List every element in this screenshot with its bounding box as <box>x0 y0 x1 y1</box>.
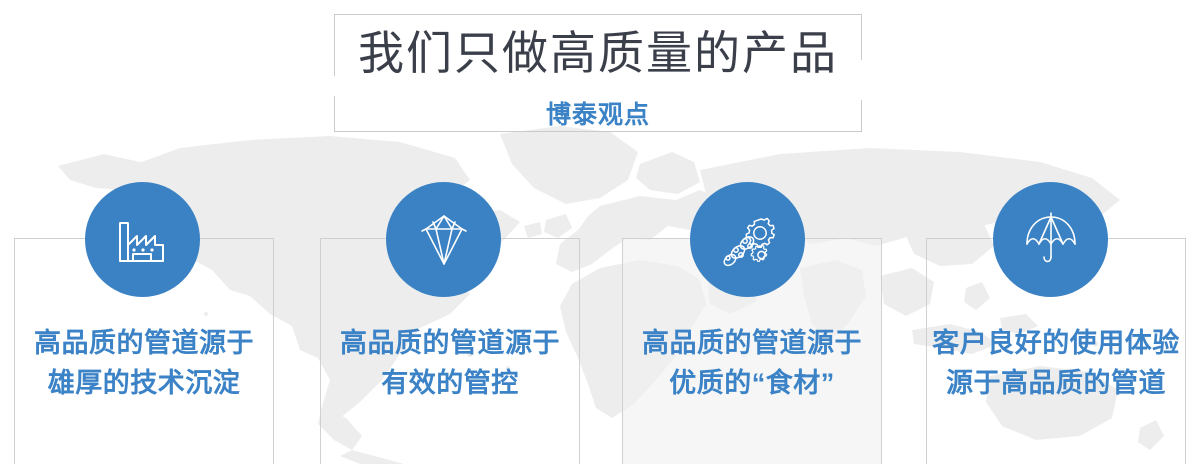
page-subtitle: 博泰观点 <box>334 100 862 130</box>
feature-icon-circle-3[interactable] <box>690 182 805 297</box>
feature-icon-circle-2[interactable] <box>386 182 501 297</box>
feature-card-3-text: 高品质的管道源于 优质的“食材” <box>623 323 881 403</box>
factory-icon <box>115 215 171 265</box>
umbrella-icon <box>1023 212 1079 268</box>
feature-icon-circle-1[interactable] <box>85 182 200 297</box>
diamond-icon <box>418 212 470 268</box>
feature-icon-circle-4[interactable] <box>993 182 1108 297</box>
page-title: 我们只做高质量的产品 <box>334 27 862 79</box>
gears-chain-icon <box>719 213 777 267</box>
feature-card-2-text: 高品质的管道源于 有效的管控 <box>321 323 579 403</box>
feature-card-1-text: 高品质的管道源于 雄厚的技术沉淀 <box>15 323 273 403</box>
title-frame: 我们只做高质量的产品 博泰观点 <box>334 14 862 132</box>
frame-border-top <box>334 14 862 15</box>
slide-canvas: 我们只做高质量的产品 博泰观点 高品质的管道源于 雄厚的技术沉淀 高品质的管道源… <box>0 0 1200 464</box>
frame-border-bottom <box>334 131 862 132</box>
feature-card-4-text: 客户良好的使用体验 源于高品质的管道 <box>927 323 1185 403</box>
